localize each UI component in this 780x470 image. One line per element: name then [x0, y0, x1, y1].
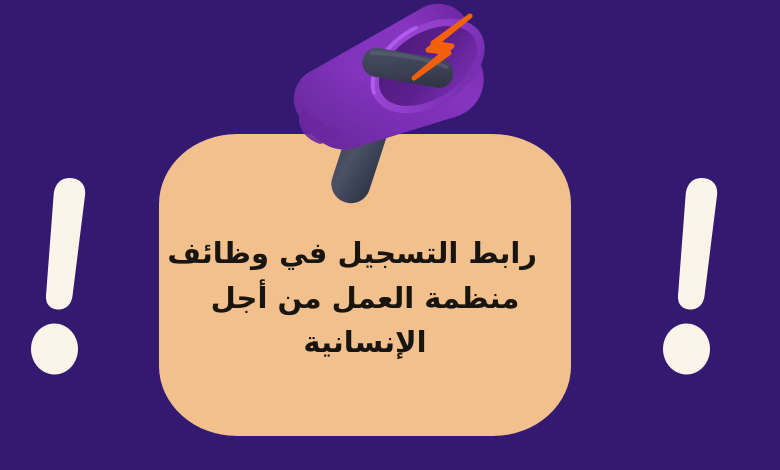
headline-text: رابط التسجيل في وظائف منظمة العمل من أجل… — [159, 231, 571, 366]
announcement-poster: رابط التسجيل في وظائف منظمة العمل من أجل… — [0, 0, 780, 470]
lightning-bolt-icon — [408, 12, 478, 84]
headline-line-2: منظمة العمل من أجل — [193, 276, 537, 321]
exclamation-mark-icon — [660, 172, 730, 382]
headline-line-3: الإنسانية — [193, 320, 537, 365]
headline-line-1: رابط التسجيل في وظائف — [193, 231, 537, 276]
exclamation-mark-icon — [28, 172, 98, 382]
